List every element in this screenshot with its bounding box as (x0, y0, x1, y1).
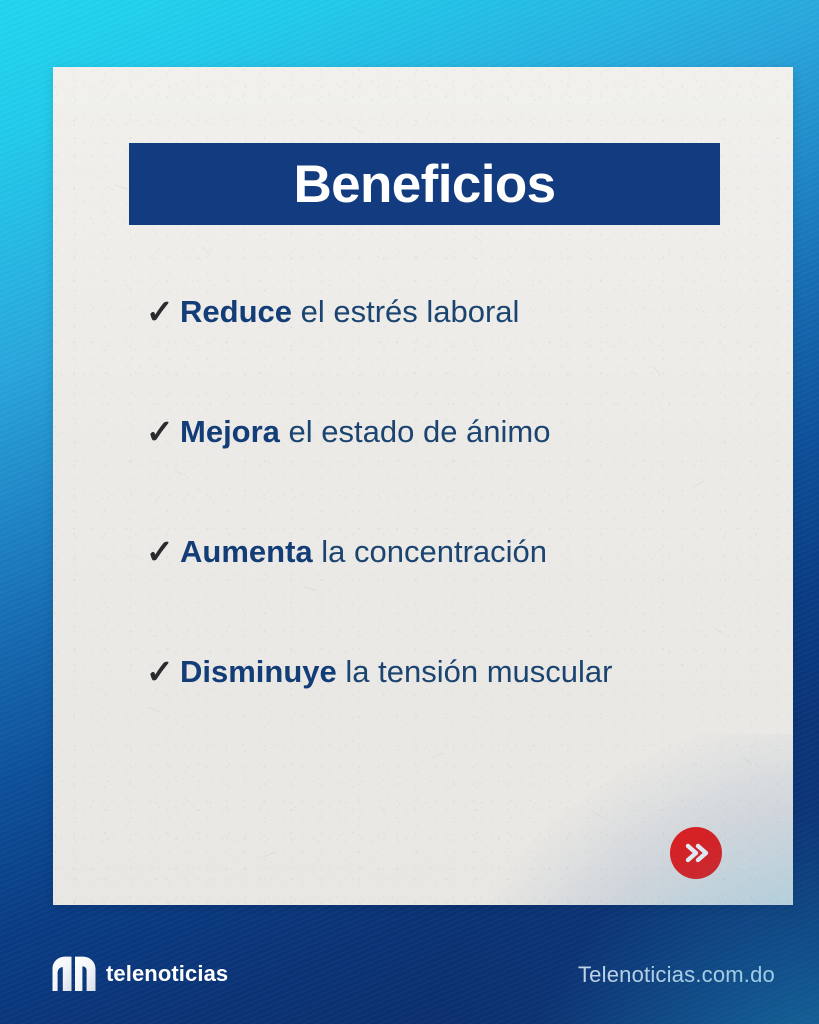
benefit-text: Reduce el estrés laboral (180, 295, 519, 329)
benefit-text: Mejora el estado de ánimo (180, 415, 551, 449)
list-item: ✓ Mejora el estado de ánimo (146, 414, 756, 534)
benefit-lead: Reduce (180, 294, 292, 329)
list-item: ✓ Disminuye la tensión muscular (146, 654, 756, 689)
check-icon: ✓ (146, 535, 180, 568)
benefit-text: Aumenta la concentración (180, 535, 547, 569)
benefit-rest: la tensión muscular (337, 654, 613, 689)
benefit-rest: el estrés laboral (292, 294, 519, 329)
benefit-lead: Disminuye (180, 654, 337, 689)
brand-lockup[interactable]: telenoticias (51, 956, 228, 992)
double-chevron-right-icon (681, 841, 711, 865)
list-item: ✓ Aumenta la concentración (146, 534, 756, 654)
content-card: Beneficios ✓ Reduce el estrés laboral ✓ … (53, 67, 793, 905)
check-icon: ✓ (146, 295, 180, 328)
check-icon: ✓ (146, 415, 180, 448)
page-title: Beneficios (293, 158, 555, 211)
brand-name: telenoticias (106, 963, 228, 985)
list-item: ✓ Reduce el estrés laboral (146, 294, 756, 414)
next-slide-button[interactable] (670, 827, 722, 879)
telenoticias-n-mark-icon (51, 956, 97, 992)
site-url[interactable]: Telenoticias.com.do (578, 964, 775, 986)
benefit-rest: el estado de ánimo (280, 414, 551, 449)
check-icon: ✓ (146, 655, 180, 688)
title-banner: Beneficios (129, 143, 720, 225)
benefit-rest: la concentración (313, 534, 547, 569)
benefit-lead: Aumenta (180, 534, 313, 569)
benefit-lead: Mejora (180, 414, 280, 449)
poster-canvas: Beneficios ✓ Reduce el estrés laboral ✓ … (0, 0, 819, 1024)
benefits-list: ✓ Reduce el estrés laboral ✓ Mejora el e… (146, 294, 756, 689)
benefit-text: Disminuye la tensión muscular (180, 655, 612, 689)
